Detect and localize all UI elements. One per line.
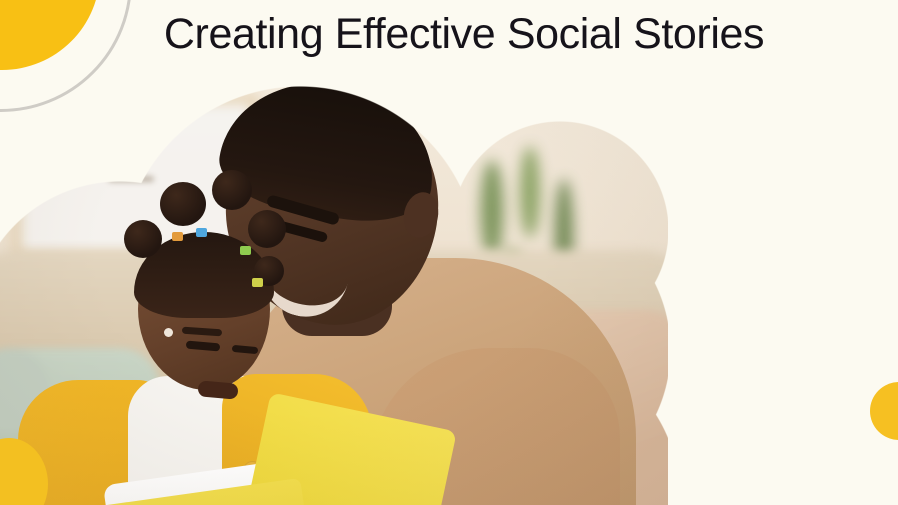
child-hair-puff [212,170,252,210]
hair-clip [240,246,251,255]
child-hair-puff [248,210,286,248]
child-hair-puff [160,182,206,226]
hair-clip [172,232,183,241]
page-title: Creating Effective Social Stories [0,8,898,62]
child-mouth [197,380,238,399]
child-earring [164,328,173,337]
hero-photo [0,80,668,505]
right-edge-yellow-circle [870,382,898,440]
child-hair-puff [124,220,162,258]
slide-canvas: Creating Effective Social Stories [0,0,898,505]
photo-scene [0,80,668,505]
hair-clip [252,278,263,287]
cabinet-handle [108,176,154,182]
hair-clip [196,228,207,237]
